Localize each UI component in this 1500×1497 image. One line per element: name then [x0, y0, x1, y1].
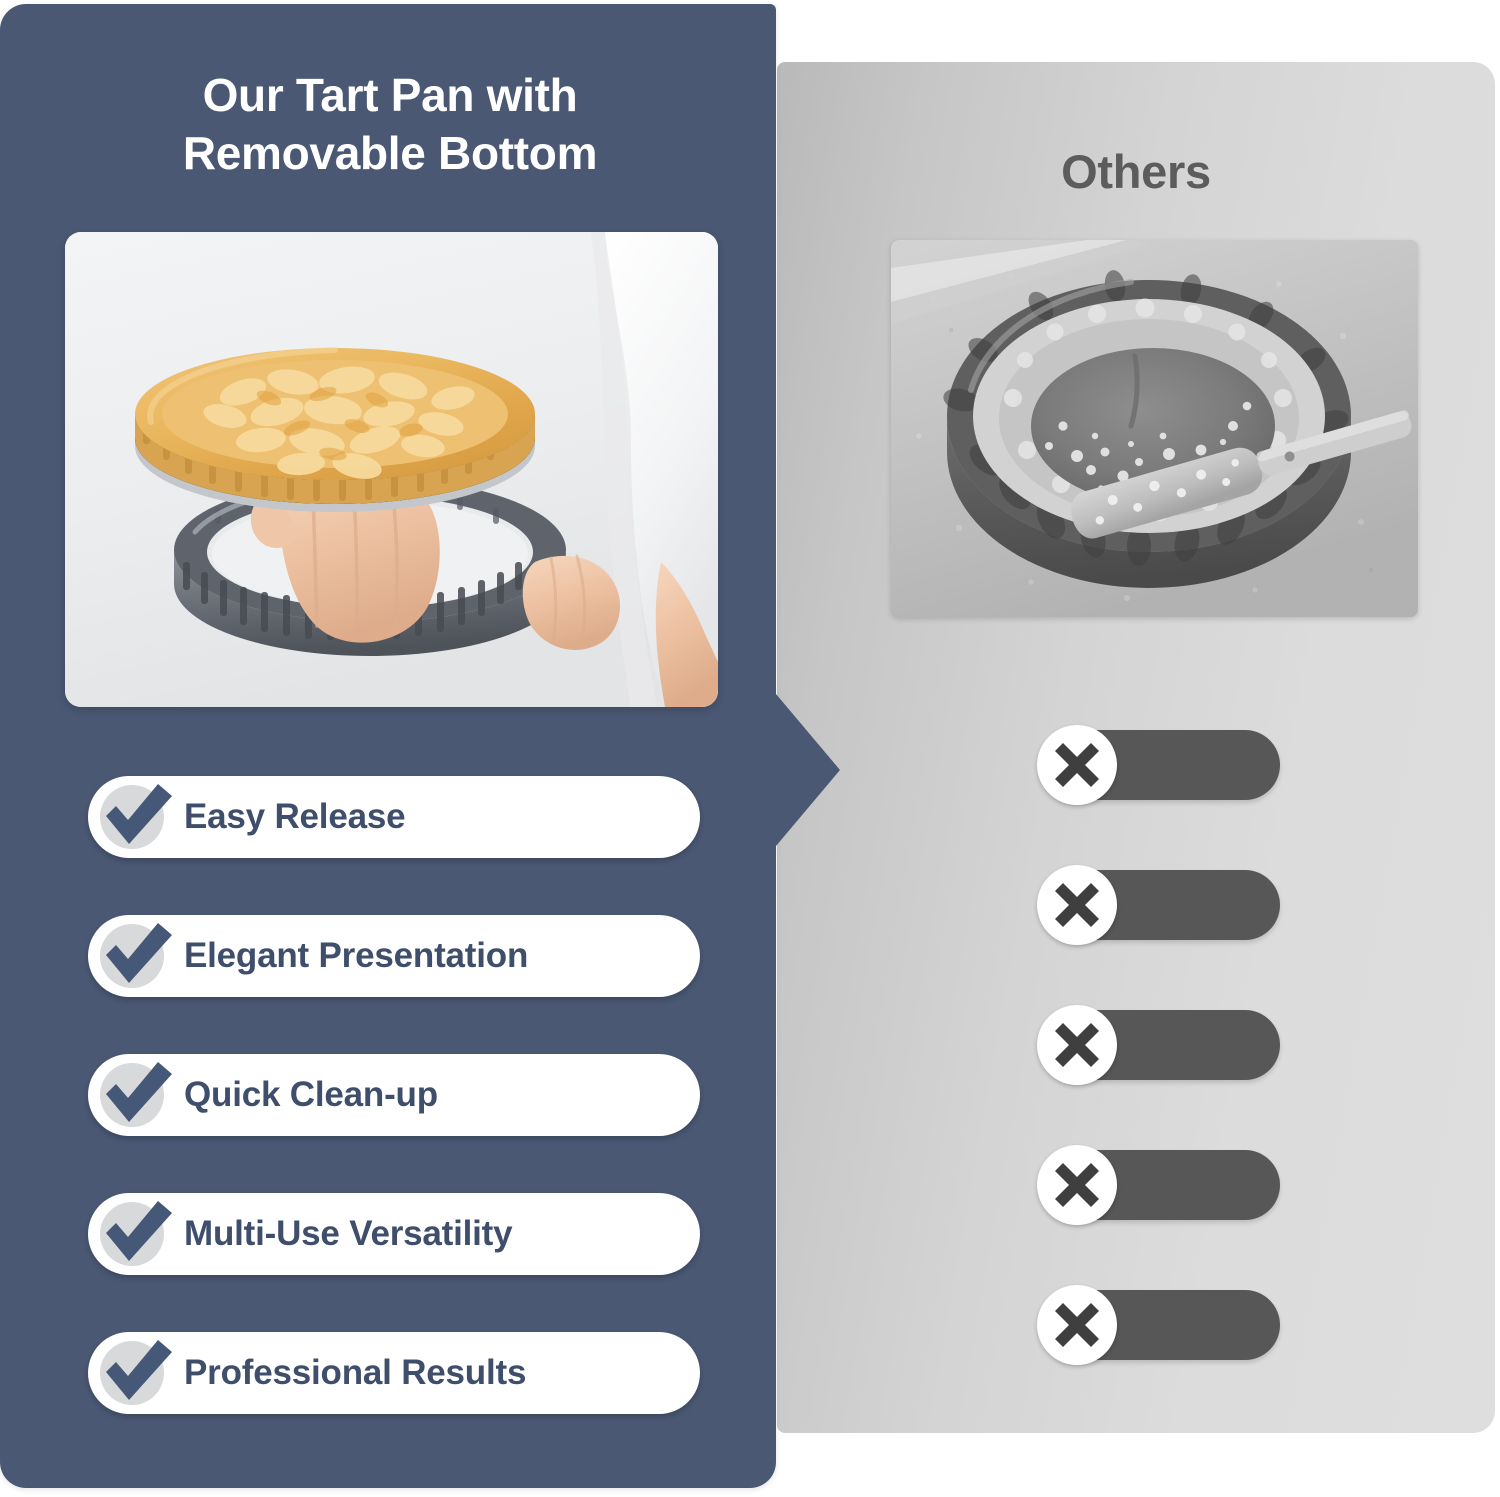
feature-label: Professional Results — [184, 1353, 526, 1393]
cross-circle-backdrop — [1037, 725, 1117, 805]
comparison-arrow-icon — [774, 694, 840, 846]
product-photo — [65, 232, 718, 707]
competitor-photo-illustration — [891, 240, 1418, 617]
others-title: Others — [777, 144, 1495, 199]
drawback-item[interactable] — [1042, 1290, 1280, 1360]
check-badge — [88, 915, 184, 997]
drawback-item[interactable] — [1042, 870, 1280, 940]
x-icon — [1051, 1159, 1103, 1211]
x-icon — [1051, 879, 1103, 931]
feature-item-elegant-presentation[interactable]: Elegant Presentation — [88, 915, 700, 997]
x-icon — [1051, 739, 1103, 791]
feature-item-quick-clean-up[interactable]: Quick Clean-up — [88, 1054, 700, 1136]
competitor-photo — [891, 240, 1418, 617]
drawback-item[interactable] — [1042, 1150, 1280, 1220]
drawback-list — [1042, 730, 1290, 1360]
others-panel: Others — [777, 62, 1495, 1433]
feature-item-multi-use-versatility[interactable]: Multi-Use Versatility — [88, 1193, 700, 1275]
x-icon — [1051, 1299, 1103, 1351]
cross-circle-backdrop — [1037, 1145, 1117, 1225]
cross-circle-backdrop — [1037, 865, 1117, 945]
cross-circle-backdrop — [1037, 1285, 1117, 1365]
feature-list: Easy Release Elegant Presentation Quick … — [88, 776, 700, 1414]
check-icon — [96, 1332, 180, 1414]
feature-label: Elegant Presentation — [184, 936, 528, 976]
feature-label: Quick Clean-up — [184, 1075, 438, 1115]
check-badge — [88, 1193, 184, 1275]
check-icon — [96, 915, 180, 997]
product-photo-illustration — [65, 232, 718, 707]
cross-circle-backdrop — [1037, 1005, 1117, 1085]
check-icon — [96, 1054, 180, 1136]
feature-item-easy-release[interactable]: Easy Release — [88, 776, 700, 858]
feature-item-professional-results[interactable]: Professional Results — [88, 1332, 700, 1414]
check-icon — [96, 1193, 180, 1275]
check-icon — [96, 776, 180, 858]
page-title: Our Tart Pan with Removable Bottom — [40, 66, 740, 183]
our-product-panel: Our Tart Pan with Removable Bottom — [0, 4, 776, 1488]
check-badge — [88, 1332, 184, 1414]
x-icon — [1051, 1019, 1103, 1071]
feature-label: Multi-Use Versatility — [184, 1214, 512, 1254]
drawback-item[interactable] — [1042, 730, 1280, 800]
check-badge — [88, 1054, 184, 1136]
drawback-item[interactable] — [1042, 1010, 1280, 1080]
check-badge — [88, 776, 184, 858]
feature-label: Easy Release — [184, 797, 405, 837]
